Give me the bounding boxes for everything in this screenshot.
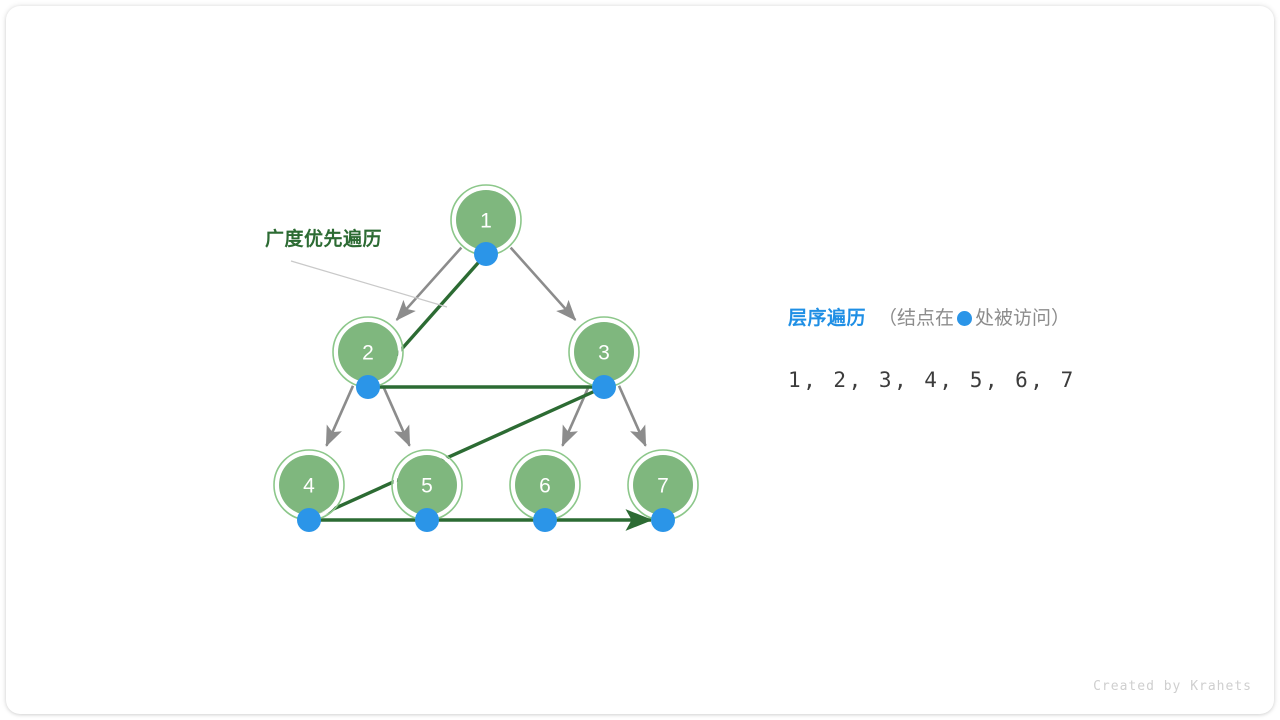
legend-heading: 层序遍历（结点在处被访问） (788, 306, 1208, 332)
tree-node-value: 4 (303, 475, 315, 498)
tree-edge-3-7 (619, 386, 646, 446)
tree-node-value: 7 (657, 475, 669, 498)
figure-card: 1234567 广度优先遍历 层序遍历（结点在处被访问） 1, 2, 3, 4,… (6, 6, 1274, 714)
tree-edge-2-5 (383, 386, 410, 446)
tree-node-value: 3 (598, 342, 610, 365)
tree-node-value: 2 (362, 342, 374, 365)
visit-dot-3 (592, 375, 616, 399)
tree-node-value: 1 (480, 210, 492, 233)
tree-edge-2-4 (326, 386, 353, 446)
footer-credit: Created by Krahets (1093, 679, 1252, 694)
traversal-sequence: 1, 2, 3, 4, 5, 6, 7 (788, 368, 1076, 392)
visit-dot-7 (651, 508, 675, 532)
visit-dot-icon (957, 311, 972, 326)
tree-edge-1-3 (511, 248, 576, 320)
label-leader-line (291, 261, 447, 307)
legend-note-before: （结点在 (878, 308, 954, 329)
visit-dot-4 (297, 508, 321, 532)
visit-dot-1 (474, 242, 498, 266)
legend-heading-accent: 层序遍历 (788, 308, 866, 329)
tree-edge-1-2 (397, 248, 462, 320)
legend-note-after: 处被访问） (975, 308, 1070, 329)
tree-node-value: 6 (539, 475, 551, 498)
label-leader-line (291, 261, 447, 307)
bfs-title-label: 广度优先遍历 (265, 224, 382, 251)
legend-panel: 层序遍历（结点在处被访问） (788, 306, 1208, 332)
binary-tree-bfs-diagram: 1234567 (6, 6, 1274, 714)
tree-node-value: 5 (421, 475, 433, 498)
visit-dot-2 (356, 375, 380, 399)
visit-dot-5 (415, 508, 439, 532)
visit-dot-6 (533, 508, 557, 532)
